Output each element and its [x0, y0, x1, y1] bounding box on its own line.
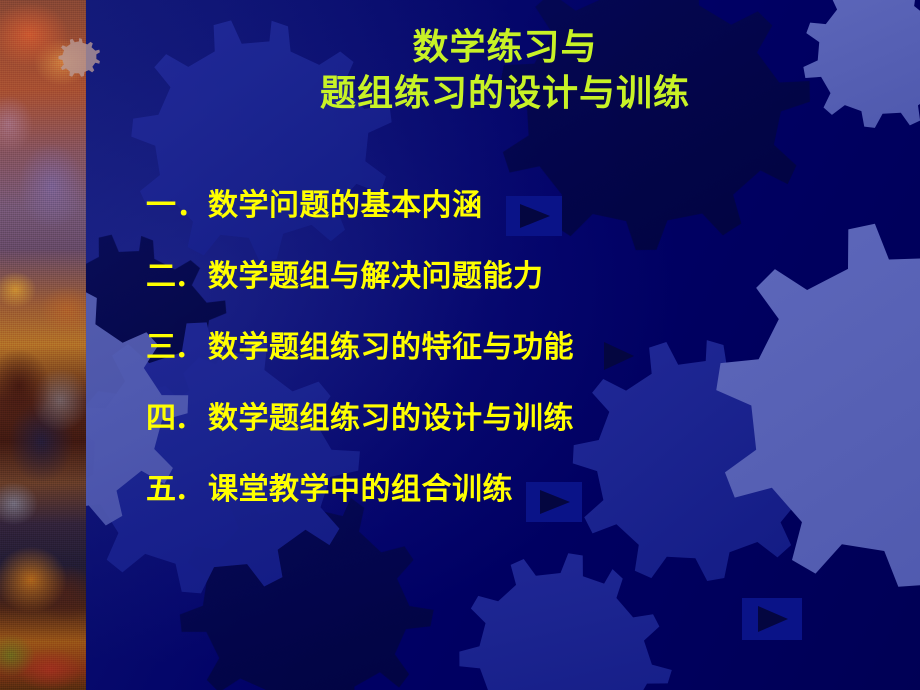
- agenda-item-2[interactable]: 二. 数学题组与解决问题能力: [146, 257, 786, 328]
- agenda-item-3[interactable]: 三. 数学题组练习的特征与功能: [146, 328, 786, 399]
- play-triangle-marker-4: [742, 598, 802, 640]
- agenda-item-4-number: 四.: [146, 399, 208, 439]
- agenda-item-5-number: 五.: [146, 470, 208, 510]
- agenda-item-1[interactable]: 一． 数学问题的基本内涵: [146, 186, 786, 257]
- agenda-item-2-label: 数学题组与解决问题能力: [208, 257, 544, 297]
- agenda-item-4[interactable]: 四. 数学题组练习的设计与训练: [146, 399, 786, 470]
- slide-title: 数学练习与 题组练习的设计与训练: [110, 24, 900, 116]
- agenda-item-4-label: 数学题组练习的设计与训练: [208, 399, 574, 439]
- agenda-item-5[interactable]: 五. 课堂教学中的组合训练: [146, 470, 786, 541]
- agenda-item-1-number: 一．: [146, 186, 208, 226]
- agenda-item-2-number: 二.: [146, 257, 208, 297]
- agenda-item-1-label: 数学问题的基本内涵: [208, 186, 483, 226]
- texture-tint: [0, 0, 86, 690]
- left-decorative-image: [0, 0, 86, 690]
- agenda-item-3-label: 数学题组练习的特征与功能: [208, 328, 574, 368]
- agenda-list: 一． 数学问题的基本内涵 二. 数学题组与解决问题能力 三. 数学题组练习的特征…: [146, 186, 786, 541]
- agenda-item-3-number: 三.: [146, 328, 208, 368]
- small-gear-icon: [56, 36, 102, 82]
- presentation-slide: 数学练习与 题组练习的设计与训练 一． 数学问题的基本内涵 二. 数学题组与解决…: [0, 0, 920, 690]
- agenda-item-5-label: 课堂教学中的组合训练: [208, 470, 513, 510]
